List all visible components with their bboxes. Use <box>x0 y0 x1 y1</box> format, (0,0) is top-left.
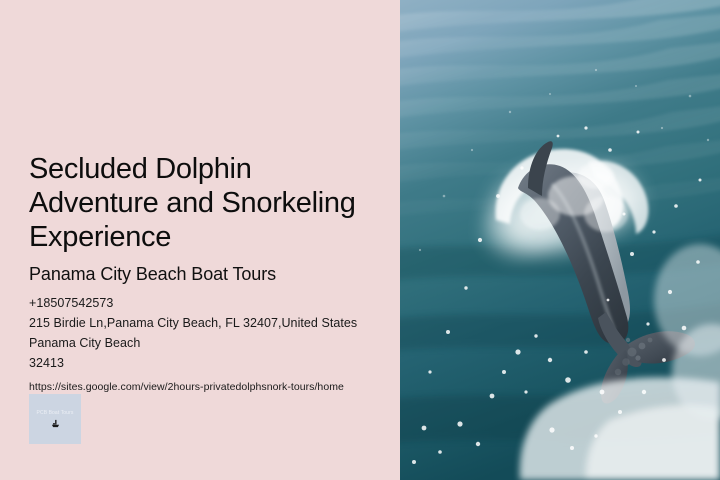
page-title: Secluded Dolphin Adventure and Snorkelin… <box>29 152 375 254</box>
postal-code: 32413 <box>29 353 386 373</box>
boat-icon <box>51 419 60 428</box>
city-name: Panama City Beach <box>29 333 386 353</box>
logo-card[interactable]: PCB Boat Tours <box>29 394 81 444</box>
info-content: Secluded Dolphin Adventure and Snorkelin… <box>29 152 386 396</box>
listing-card: Secluded Dolphin Adventure and Snorkelin… <box>0 0 720 480</box>
phone-number[interactable]: +18507542573 <box>29 293 386 313</box>
street-address: 215 Birdie Ln,Panama City Beach, FL 3240… <box>29 313 386 333</box>
dolphin-surfacing-photo <box>400 0 720 480</box>
logo-card-label: PCB Boat Tours <box>37 410 74 416</box>
website-url[interactable]: https://sites.google.com/view/2hours-pri… <box>29 378 386 396</box>
info-panel: Secluded Dolphin Adventure and Snorkelin… <box>0 0 400 480</box>
business-name: Panama City Beach Boat Tours <box>29 263 386 285</box>
